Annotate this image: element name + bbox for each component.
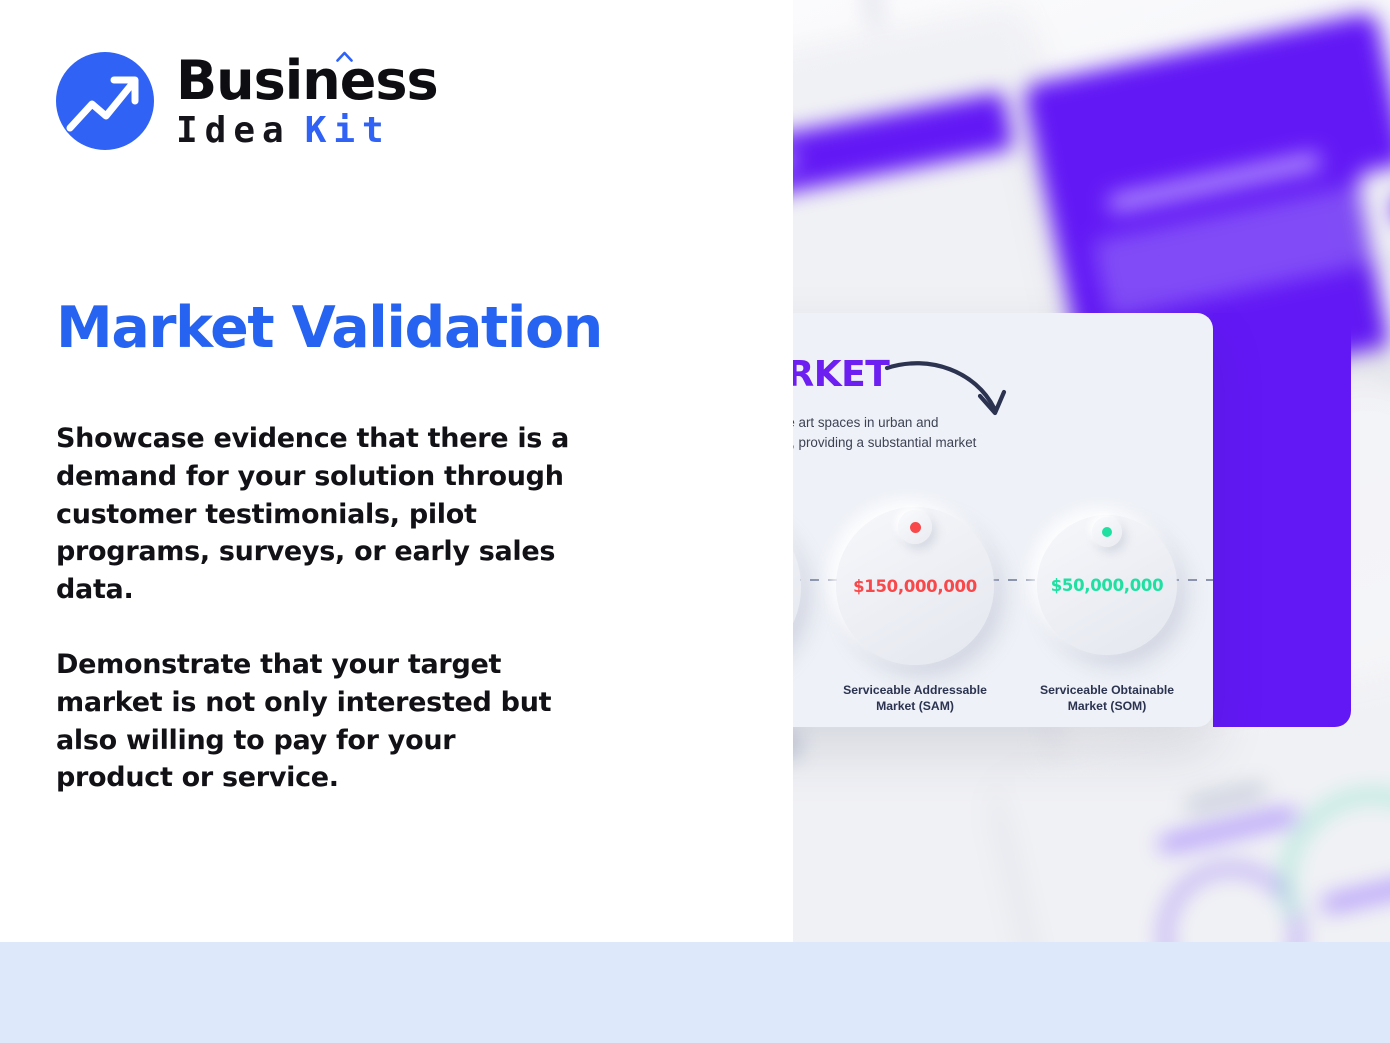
red-dot-icon (910, 522, 921, 533)
brand-logo[interactable]: Business Idea Kit (56, 52, 438, 150)
sam-caption-line-2: Market (SAM) (876, 699, 954, 713)
brand-name-idea-kit: Idea Kit (176, 113, 438, 149)
green-dot-icon (1102, 527, 1112, 537)
brand-name-idea: Idea (176, 113, 291, 149)
som-caption: Serviceable Obtainable Market (SOM) (1002, 683, 1212, 714)
page-title: Market Validation (56, 295, 602, 361)
slide-page: THE MARKET The demand for accessible art… (0, 0, 1390, 1043)
purple-accent-block (1213, 313, 1351, 727)
body-paragraph-2: Demonstrate that your target market is n… (56, 646, 576, 797)
left-content-panel: Business Idea Kit Market Validation Show… (0, 0, 793, 942)
curved-arrow-down-right-icon (884, 356, 1014, 426)
som-knob (1092, 517, 1122, 547)
sam-amount: $150,000,000 (853, 577, 977, 596)
brand-wordmark: Business Idea Kit (176, 54, 438, 149)
som-amount: $50,000,000 (1051, 576, 1164, 595)
sam-caption-line-1: Serviceable Addressable (843, 683, 987, 697)
growth-arrow-icon (56, 52, 154, 150)
body-paragraph-1: Showcase evidence that there is a demand… (56, 420, 576, 609)
sam-caption: Serviceable Addressable Market (SAM) (810, 683, 1020, 714)
som-caption-line-2: Market (SOM) (1068, 699, 1147, 713)
caret-accent-icon (336, 51, 353, 62)
som-caption-line-1: Serviceable Obtainable (1040, 683, 1174, 697)
bottom-blue-strip (0, 942, 1390, 1043)
sam-knob (898, 510, 932, 544)
brand-name-kit: Kit (305, 113, 391, 149)
brand-name-business-text: Business (176, 49, 438, 112)
brand-name-business: Business (176, 54, 438, 108)
